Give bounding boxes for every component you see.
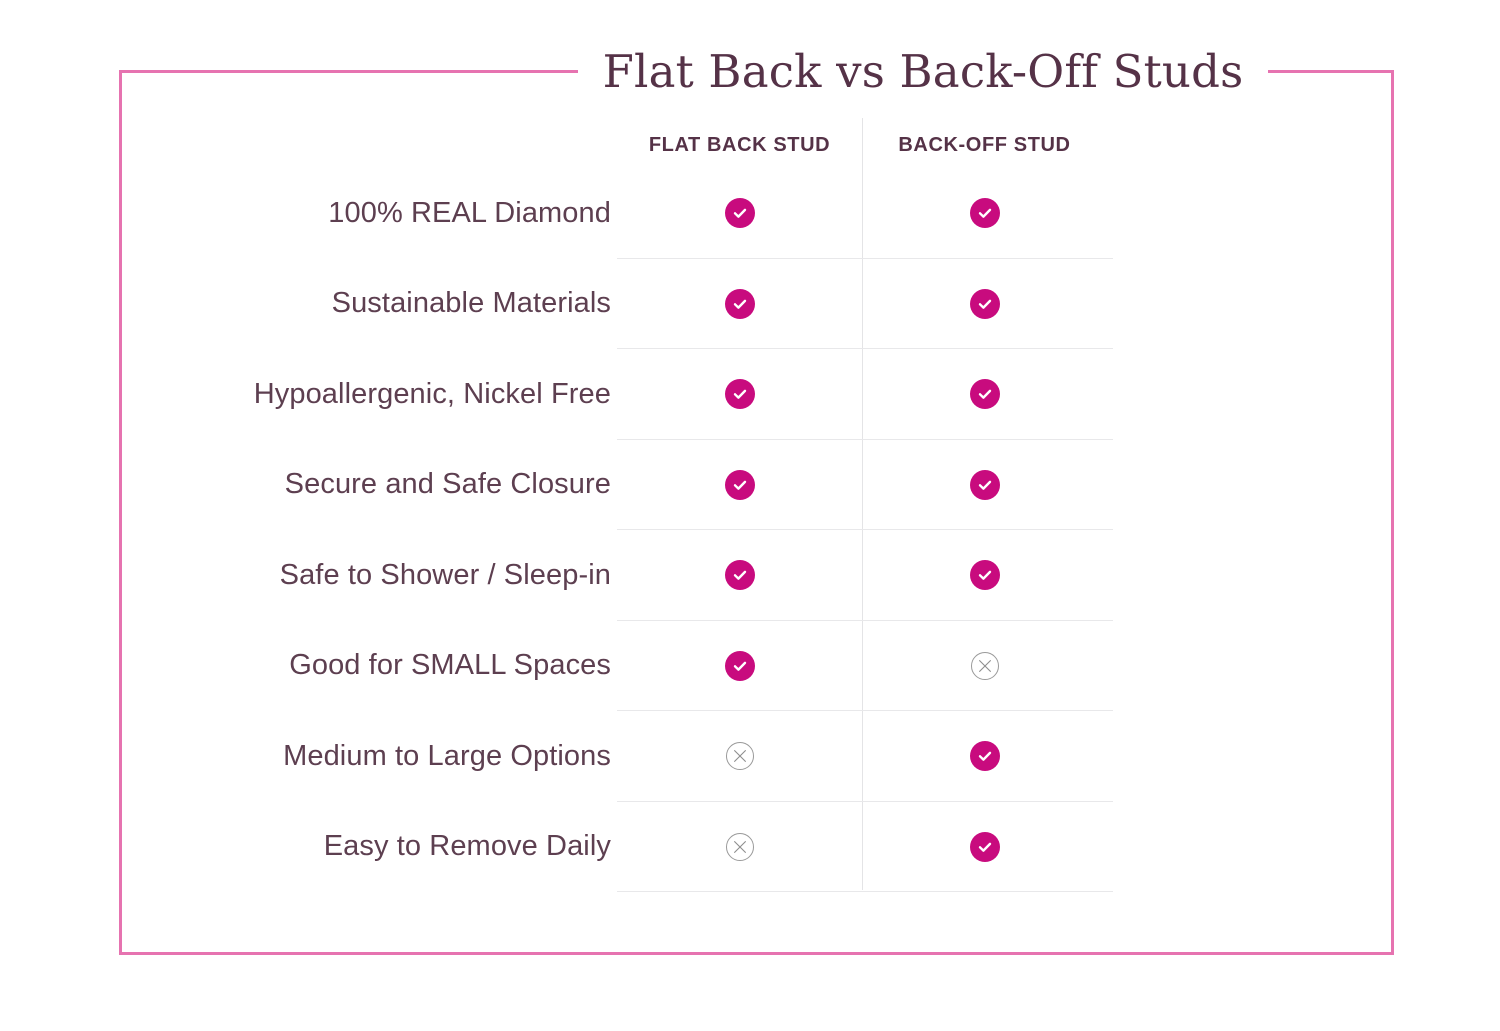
- check-circle-filled-icon: [970, 289, 1000, 319]
- row-label: Hypoallergenic, Nickel Free: [119, 378, 617, 411]
- cell-back-off-stud: [862, 470, 1107, 500]
- column-header-flat-back-stud: FLAT BACK STUD: [617, 122, 862, 168]
- table-row: Safe to Shower / Sleep-in: [119, 530, 1394, 621]
- cell-flat-back-stud: [617, 470, 862, 500]
- table-row: Medium to Large Options: [119, 711, 1394, 802]
- check-circle-filled-icon: [725, 198, 755, 228]
- cell-back-off-stud: [862, 198, 1107, 228]
- cross-circle-outline-icon: [726, 833, 754, 861]
- row-label: Easy to Remove Daily: [119, 830, 617, 863]
- cell-flat-back-stud: [617, 833, 862, 861]
- cell-flat-back-stud: [617, 379, 862, 409]
- row-label: Medium to Large Options: [119, 740, 617, 773]
- check-circle-filled-icon: [970, 832, 1000, 862]
- cell-flat-back-stud: [617, 198, 862, 228]
- row-label: Good for SMALL Spaces: [119, 649, 617, 682]
- cell-flat-back-stud: [617, 651, 862, 681]
- table-row: Easy to Remove Daily: [119, 802, 1394, 893]
- cell-flat-back-stud: [617, 742, 862, 770]
- comparison-table: FLAT BACK STUD BACK-OFF STUD 100% REAL D…: [119, 70, 1394, 955]
- cell-back-off-stud: [862, 652, 1107, 680]
- table-row: Hypoallergenic, Nickel Free: [119, 349, 1394, 440]
- check-circle-filled-icon: [725, 379, 755, 409]
- cell-back-off-stud: [862, 379, 1107, 409]
- cell-back-off-stud: [862, 741, 1107, 771]
- page-title: Flat Back vs Back-Off Studs: [578, 40, 1268, 102]
- row-label: Secure and Safe Closure: [119, 468, 617, 501]
- check-circle-filled-icon: [725, 470, 755, 500]
- table-body: 100% REAL DiamondSustainable MaterialsHy…: [119, 168, 1394, 892]
- cross-circle-outline-icon: [971, 652, 999, 680]
- cross-circle-outline-icon: [726, 742, 754, 770]
- row-label: Sustainable Materials: [119, 287, 617, 320]
- check-circle-filled-icon: [970, 560, 1000, 590]
- cell-back-off-stud: [862, 560, 1107, 590]
- check-circle-filled-icon: [725, 289, 755, 319]
- table-row: Good for SMALL Spaces: [119, 621, 1394, 712]
- table-row: 100% REAL Diamond: [119, 168, 1394, 259]
- column-header-back-off-stud: BACK-OFF STUD: [862, 122, 1107, 168]
- cell-flat-back-stud: [617, 560, 862, 590]
- table-header-row: FLAT BACK STUD BACK-OFF STUD: [119, 122, 1394, 168]
- header-label-spacer: [119, 122, 617, 168]
- check-circle-filled-icon: [725, 651, 755, 681]
- row-label: 100% REAL Diamond: [119, 197, 617, 230]
- cell-back-off-stud: [862, 289, 1107, 319]
- row-separator: [617, 891, 1113, 892]
- check-circle-filled-icon: [725, 560, 755, 590]
- table-row: Sustainable Materials: [119, 259, 1394, 350]
- check-circle-filled-icon: [970, 198, 1000, 228]
- check-circle-filled-icon: [970, 379, 1000, 409]
- table-row: Secure and Safe Closure: [119, 440, 1394, 531]
- cell-flat-back-stud: [617, 289, 862, 319]
- row-label: Safe to Shower / Sleep-in: [119, 559, 617, 592]
- cell-back-off-stud: [862, 832, 1107, 862]
- comparison-infographic: Flat Back vs Back-Off Studs FLAT BACK ST…: [0, 0, 1500, 1031]
- check-circle-filled-icon: [970, 470, 1000, 500]
- check-circle-filled-icon: [970, 741, 1000, 771]
